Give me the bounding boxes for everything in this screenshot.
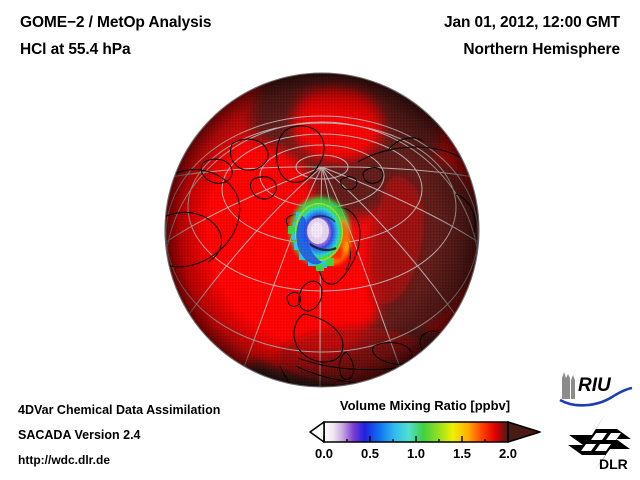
globe-data-field (160, 66, 484, 394)
colorbar-gradient (308, 420, 542, 444)
observation-datetime: Jan 01, 2012, 12:00 GMT (444, 14, 620, 32)
dlr-wordmark: DLR (599, 456, 628, 472)
page-title-line2: HCl at 55.4 hPa (20, 41, 131, 59)
footer-version: SACADA Version 2.4 (18, 428, 141, 442)
colorbar-tick-0: 0.0 (315, 446, 333, 461)
colorbar: Volume Mixing Ratio [ppbv] 0.00.51.01.52… (300, 398, 550, 476)
footer-method: 4DVar Chemical Data Assimilation (18, 403, 220, 417)
colorbar-tick-labels: 0.00.51.01.52.0 (300, 446, 550, 466)
colorbar-tick-4: 2.0 (499, 446, 517, 461)
riu-logo: RIU (556, 369, 634, 407)
riu-wordmark: RIU (578, 375, 612, 396)
hemisphere-label: Northern Hemisphere (463, 41, 620, 59)
riu-towers-icon (562, 372, 575, 399)
footer-url[interactable]: http://wdc.dlr.de (18, 453, 110, 467)
dlr-logo: DLR (566, 411, 634, 473)
page-title-line1: GOME−2 / MetOp Analysis (20, 14, 211, 32)
colorbar-title: Volume Mixing Ratio [ppbv] (300, 398, 550, 413)
colorbar-tick-3: 1.5 (453, 446, 471, 461)
globe-map (160, 66, 484, 394)
colorbar-tick-2: 1.0 (407, 446, 425, 461)
colorbar-tick-1: 0.5 (361, 446, 379, 461)
